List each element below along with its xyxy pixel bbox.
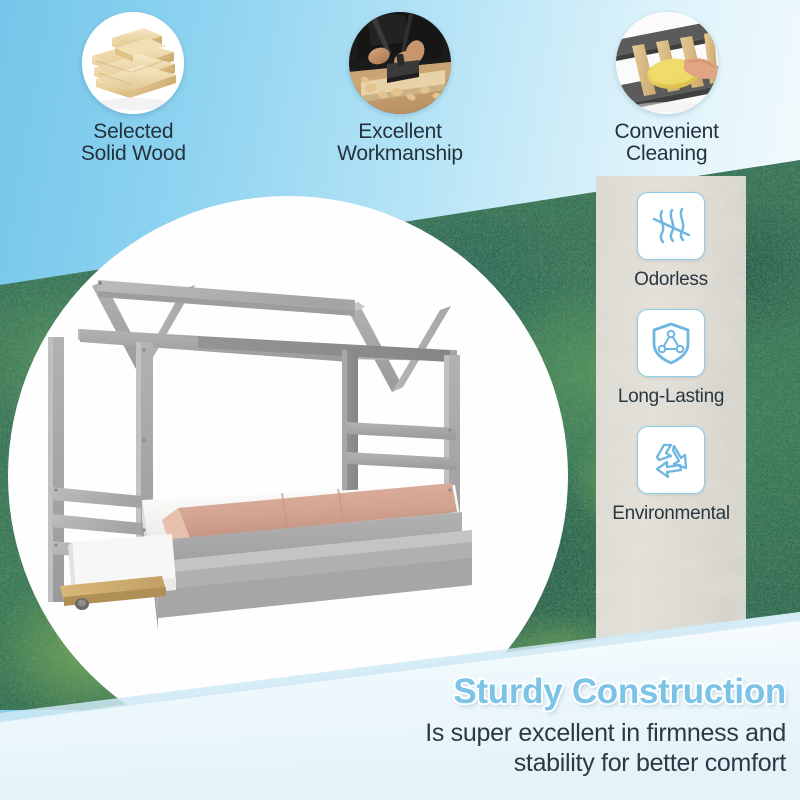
top-feature-excellent-workmanship: Excellent Workmanship (267, 0, 534, 176)
top-feature-label-line2: Solid Wood (81, 143, 186, 165)
side-feature-long-lasting[interactable]: Long-Lasting (618, 309, 724, 408)
top-feature-label-line1: Convenient (615, 121, 719, 143)
stacked-lumber-image (82, 12, 184, 114)
wiping-slats-cloth-photo (616, 12, 718, 114)
stacked-lumber-photo (82, 12, 184, 114)
slat-cleaning-image (616, 12, 718, 114)
side-feature-odorless[interactable]: Odorless (634, 192, 708, 291)
long-lasting-tile[interactable] (637, 309, 705, 377)
top-feature-selected-solid-wood: Selected Solid Wood (0, 0, 267, 176)
banner-subline-line1: Is super excellent in firmness and (146, 719, 786, 749)
top-feature-label: Convenient Cleaning (615, 121, 719, 166)
side-feature-label: Environmental (612, 503, 730, 525)
top-feature-label-line2: Workmanship (337, 143, 463, 165)
banner-headline: Sturdy Construction (146, 674, 786, 709)
banner-subline-line2: stability for better comfort (146, 749, 786, 779)
environmental-tile[interactable] (637, 426, 705, 494)
top-feature-strip: Selected Solid Wood (0, 0, 800, 176)
carpenter-planing-wood-photo (349, 12, 451, 114)
top-feature-label: Selected Solid Wood (81, 121, 186, 166)
odor-waves-crossed-out-icon (648, 203, 694, 249)
side-feature-label: Long-Lasting (618, 386, 724, 408)
bottom-banner: Sturdy Construction Is super excellent i… (0, 612, 800, 800)
side-feature-environmental[interactable]: Environmental (612, 426, 730, 525)
banner-subline: Is super excellent in firmness and stabi… (146, 719, 786, 778)
house-frame-bed-illustration (20, 190, 520, 660)
odorless-tile[interactable] (637, 192, 705, 260)
top-feature-label-line2: Cleaning (615, 143, 719, 165)
shield-molecule-icon (648, 320, 694, 366)
top-feature-label-line1: Selected (81, 121, 186, 143)
side-feature-label: Odorless (634, 269, 708, 291)
recycle-icon (648, 437, 694, 483)
top-feature-label-line1: Excellent (337, 121, 463, 143)
carpenter-planing-image (349, 12, 451, 114)
infographic-canvas: Selected Solid Wood (0, 0, 800, 800)
product-image-house-bed (20, 190, 520, 660)
banner-text-block: Sturdy Construction Is super excellent i… (146, 674, 786, 778)
top-feature-convenient-cleaning: Convenient Cleaning (533, 0, 800, 176)
top-feature-label: Excellent Workmanship (337, 121, 463, 166)
